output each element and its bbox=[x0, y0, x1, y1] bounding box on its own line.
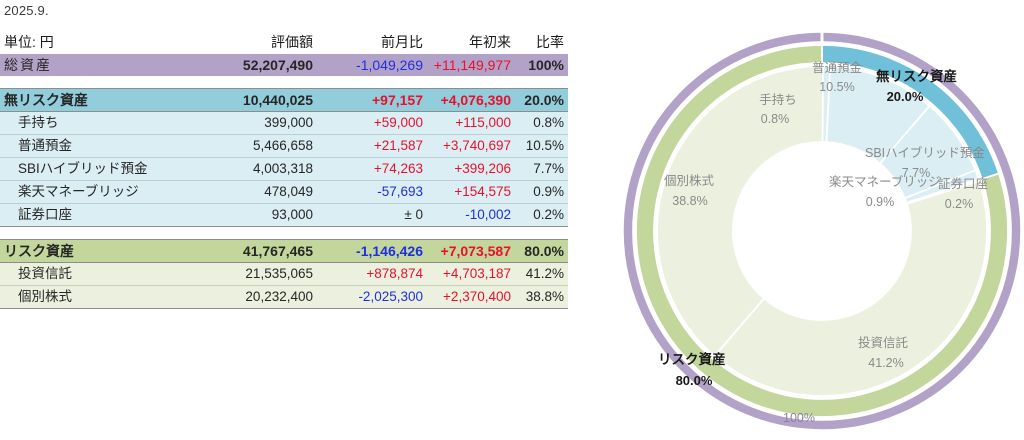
spacer-cell bbox=[0, 76, 568, 89]
table-row: 普通預金5,466,658+21,587+3,740,69710.5% bbox=[0, 135, 568, 158]
row-month-over-month: ± 0 bbox=[320, 204, 430, 227]
row-label: 手持ち bbox=[0, 112, 192, 135]
column-header-1: 評価額 bbox=[192, 30, 320, 54]
row-value: 20,232,400 bbox=[192, 286, 320, 309]
row-label: 投資信託 bbox=[0, 263, 192, 286]
row-month-over-month: +21,587 bbox=[320, 135, 430, 158]
row-ratio: 10.5% bbox=[518, 135, 568, 158]
row-ratio: 7.7% bbox=[518, 158, 568, 181]
row-value: 478,049 bbox=[192, 181, 320, 204]
row-month-over-month: +97,157 bbox=[320, 89, 430, 112]
column-header-0: 単位: 円 bbox=[0, 30, 192, 54]
row-value: 5,466,658 bbox=[192, 135, 320, 158]
row-label: 総資産 bbox=[0, 54, 192, 76]
row-ratio: 38.8% bbox=[518, 286, 568, 309]
row-label: 無リスク資産 bbox=[0, 89, 192, 112]
row-month-over-month: -1,049,269 bbox=[320, 54, 430, 76]
table-header-row: 単位: 円評価額前月比年初来比率 bbox=[0, 30, 568, 54]
row-ratio: 0.9% bbox=[518, 181, 568, 204]
row-month-over-month: -57,693 bbox=[320, 181, 430, 204]
slice-value-murisuku-shisan: 20.0% bbox=[887, 89, 924, 104]
slice-value-shoken-kouza: 0.2% bbox=[945, 197, 974, 211]
row-value: 41,767,465 bbox=[192, 240, 320, 263]
table-row: リスク資産41,767,465-1,146,426+7,073,58780.0% bbox=[0, 240, 568, 263]
row-spacer-before-1 bbox=[0, 76, 568, 89]
donut-svg: 普通預金 10.5% 無リスク資産 20.0% 手持ち 0.8% SBIハイブリ… bbox=[618, 25, 1024, 440]
row-ratio: 0.2% bbox=[518, 204, 568, 227]
row-label: 楽天マネーブリッジ bbox=[0, 181, 192, 204]
table-row: 総資産52,207,490-1,049,269+11,149,977100% bbox=[0, 54, 568, 76]
slice-label-murisuku-shisan: 無リスク資産 bbox=[876, 68, 957, 84]
row-value: 399,000 bbox=[192, 112, 320, 135]
row-month-over-month: +878,874 bbox=[320, 263, 430, 286]
row-value: 4,003,318 bbox=[192, 158, 320, 181]
slice-label-toshi-shintaku: 投資信託 bbox=[858, 335, 909, 350]
slice-label-shoken-kouza: 証券口座 bbox=[938, 176, 988, 191]
row-ratio: 0.8% bbox=[518, 112, 568, 135]
row-year-to-date: +3,740,697 bbox=[430, 135, 518, 158]
row-value: 10,440,025 bbox=[192, 89, 320, 112]
row-ratio: 41.2% bbox=[518, 263, 568, 286]
row-year-to-date: +2,370,400 bbox=[430, 286, 518, 309]
row-year-to-date: +4,076,390 bbox=[430, 89, 518, 112]
table-row: 楽天マネーブリッジ478,049-57,693+154,5750.9% bbox=[0, 181, 568, 204]
column-header-2: 前月比 bbox=[320, 30, 430, 54]
row-month-over-month: -2,025,300 bbox=[320, 286, 430, 309]
row-year-to-date: +4,703,187 bbox=[430, 263, 518, 286]
row-month-over-month: -1,146,426 bbox=[320, 240, 430, 263]
row-label: リスク資産 bbox=[0, 240, 192, 263]
row-year-to-date: -10,002 bbox=[430, 204, 518, 227]
row-year-to-date: +7,073,587 bbox=[430, 240, 518, 263]
asset-table: 単位: 円評価額前月比年初来比率総資産52,207,490-1,049,269+… bbox=[0, 30, 568, 309]
slice-value-toshi-shintaku: 41.2% bbox=[868, 356, 903, 370]
row-month-over-month: +59,000 bbox=[320, 112, 430, 135]
asset-table-container: 単位: 円評価額前月比年初来比率総資産52,207,490-1,049,269+… bbox=[0, 30, 568, 309]
row-year-to-date: +11,149,977 bbox=[430, 54, 518, 76]
row-value: 52,207,490 bbox=[192, 54, 320, 76]
column-header-4: 比率 bbox=[518, 30, 568, 54]
slice-value-temochi: 0.8% bbox=[761, 112, 790, 126]
table-row: 無リスク資産10,440,025+97,157+4,076,39020.0% bbox=[0, 89, 568, 112]
asset-allocation-donut-chart: 普通預金 10.5% 無リスク資産 20.0% 手持ち 0.8% SBIハイブリ… bbox=[618, 25, 1024, 440]
row-value: 93,000 bbox=[192, 204, 320, 227]
slice-value-futsu-yokin: 10.5% bbox=[819, 80, 854, 94]
row-ratio: 100% bbox=[518, 54, 568, 76]
table-row: 投資信託21,535,065+878,874+4,703,18741.2% bbox=[0, 263, 568, 286]
slice-label-rakuten-money-bridge: 楽天マネーブリッジ bbox=[829, 174, 941, 189]
date-caption: 2025.9. bbox=[4, 3, 49, 18]
row-ratio: 20.0% bbox=[518, 89, 568, 112]
row-spacer-before-7 bbox=[0, 227, 568, 240]
slice-value-risuku-shisan: 80.0% bbox=[676, 373, 713, 388]
table-row: SBIハイブリッド預金4,003,318+74,263+399,2067.7% bbox=[0, 158, 568, 181]
spacer-cell bbox=[0, 227, 568, 240]
slice-label-kobetsu-kabushiki: 個別株式 bbox=[664, 173, 715, 188]
row-year-to-date: +399,206 bbox=[430, 158, 518, 181]
row-year-to-date: +115,000 bbox=[430, 112, 518, 135]
row-value: 21,535,065 bbox=[192, 263, 320, 286]
asset-table-body: 単位: 円評価額前月比年初来比率総資産52,207,490-1,049,269+… bbox=[0, 30, 568, 309]
row-label: 個別株式 bbox=[0, 286, 192, 309]
slice-value-rakuten-money-bridge: 0.9% bbox=[866, 195, 895, 209]
slice-value-kobetsu-kabushiki: 38.8% bbox=[672, 194, 707, 208]
row-label: 普通預金 bbox=[0, 135, 192, 158]
table-row: 手持ち399,000+59,000+115,0000.8% bbox=[0, 112, 568, 135]
slice-label-futsu-yokin: 普通預金 bbox=[812, 60, 863, 75]
row-ratio: 80.0% bbox=[518, 240, 568, 263]
row-year-to-date: +154,575 bbox=[430, 181, 518, 204]
table-row: 個別株式20,232,400-2,025,300+2,370,40038.8% bbox=[0, 286, 568, 309]
table-row: 証券口座93,000± 0-10,0020.2% bbox=[0, 204, 568, 227]
slice-label-sbi-hybrid: SBIハイブリッド預金 bbox=[865, 145, 985, 160]
slice-label-risuku-shisan: リスク資産 bbox=[658, 351, 726, 367]
row-month-over-month: +74,263 bbox=[320, 158, 430, 181]
row-label: 証券口座 bbox=[0, 204, 192, 227]
column-header-3: 年初来 bbox=[430, 30, 518, 54]
row-label: SBIハイブリッド預金 bbox=[0, 158, 192, 181]
outer-ring-total-value: 100% bbox=[783, 411, 815, 425]
slice-label-temochi: 手持ち bbox=[759, 92, 797, 107]
